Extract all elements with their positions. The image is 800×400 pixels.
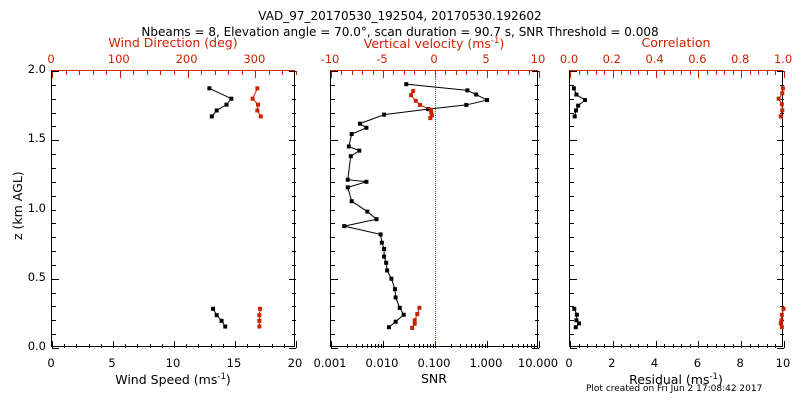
data-point-marker <box>229 97 233 101</box>
axis-tick <box>777 348 784 349</box>
data-point-marker <box>257 325 261 329</box>
data-point-marker <box>350 199 354 203</box>
data-point-marker <box>346 185 350 189</box>
data-series-layer <box>331 71 537 346</box>
axis-tick <box>570 348 577 349</box>
data-point-marker <box>382 247 386 251</box>
bottom-tick-label: 1.000 <box>456 358 516 370</box>
data-point-marker <box>414 99 418 103</box>
data-point-marker <box>342 224 346 228</box>
data-point-marker <box>394 295 398 299</box>
data-point-marker <box>384 261 388 265</box>
data-point-marker <box>207 86 211 90</box>
y-tick-label: 0.5 <box>14 272 46 284</box>
series-vertical-velocity <box>409 89 434 330</box>
top-tick-label: 100 <box>89 54 149 66</box>
data-point-marker <box>258 307 262 311</box>
data-point-marker <box>573 114 577 118</box>
top-tick-label: 5 <box>456 54 516 66</box>
data-point-marker <box>411 89 415 93</box>
data-point-marker <box>576 104 580 108</box>
data-point-marker <box>413 322 417 326</box>
data-point-marker <box>574 108 578 112</box>
series-line <box>209 88 231 116</box>
series-wind-speed <box>207 86 233 328</box>
series-correlation <box>777 86 786 329</box>
data-point-marker <box>398 306 402 310</box>
data-point-marker <box>402 313 406 317</box>
data-point-marker <box>364 180 368 184</box>
bottom-tick-label: 10 <box>143 358 203 370</box>
data-point-marker <box>780 108 784 112</box>
data-point-marker <box>220 319 224 323</box>
y-tick-label: 1.5 <box>14 133 46 145</box>
data-point-marker <box>350 132 354 136</box>
data-point-marker <box>780 91 784 95</box>
data-point-marker <box>365 210 369 214</box>
data-point-marker <box>385 268 389 272</box>
bottom-tick-label: 5 <box>82 358 142 370</box>
axis-tick <box>532 348 539 349</box>
vad-profile-figure: VAD_97_20170530_192504, 20170530.192602 … <box>0 0 800 400</box>
data-series-layer <box>570 71 782 346</box>
bottom-tick-label: 15 <box>204 358 264 370</box>
data-point-marker <box>358 122 362 126</box>
axis-tick <box>296 341 297 348</box>
series-wind-direction <box>251 86 263 328</box>
top-tick-label: 0 <box>21 54 81 66</box>
top-axis-label-residual: Correlation <box>569 37 783 50</box>
data-point-marker <box>215 108 219 112</box>
data-point-marker <box>347 144 351 148</box>
top-tick-label: -10 <box>300 54 360 66</box>
data-point-marker <box>215 313 219 317</box>
data-point-marker <box>255 86 259 90</box>
data-point-marker <box>777 97 781 101</box>
y-tick-label: 1.0 <box>14 203 46 215</box>
axis-tick <box>289 348 296 349</box>
data-point-marker <box>259 114 263 118</box>
data-point-marker <box>393 287 397 291</box>
axis-tick <box>296 71 297 75</box>
data-point-marker <box>387 325 391 329</box>
data-point-marker <box>394 320 398 324</box>
axis-tick <box>784 341 785 348</box>
data-series-layer <box>52 71 294 346</box>
plot-panel-snr[interactable] <box>330 70 538 347</box>
data-point-marker <box>780 313 784 317</box>
figure-title-line1: VAD_97_20170530_192504, 20170530.192602 <box>0 10 800 22</box>
data-point-marker <box>575 313 579 317</box>
series-residual <box>572 86 587 329</box>
y-tick-label: 0.0 <box>14 341 46 353</box>
data-point-marker <box>782 307 786 311</box>
data-point-marker <box>257 319 261 323</box>
data-point-marker <box>379 232 383 236</box>
data-point-marker <box>780 325 784 329</box>
data-point-marker <box>417 306 421 310</box>
data-point-marker <box>404 82 408 86</box>
axis-tick <box>784 71 785 78</box>
bottom-tick-label: 10 <box>753 358 800 370</box>
bottom-tick-label: 0.001 <box>300 358 360 370</box>
axis-tick <box>331 348 338 349</box>
data-point-marker <box>224 103 228 107</box>
data-point-marker <box>257 313 261 317</box>
data-point-marker <box>781 86 785 90</box>
data-point-marker <box>382 113 386 117</box>
data-point-marker <box>223 325 227 329</box>
top-tick-label: 1.0 <box>753 54 800 66</box>
data-point-marker <box>779 321 783 325</box>
data-point-marker <box>572 307 576 311</box>
data-point-marker <box>251 97 255 101</box>
data-point-marker <box>583 98 587 102</box>
data-point-marker <box>349 154 353 158</box>
top-axis-label-wind: Wind Direction (deg) <box>51 37 295 50</box>
bottom-axis-label-residual: Residual (ms-1) <box>569 373 783 387</box>
bottom-tick-label: 0.010 <box>352 358 412 370</box>
axis-tick <box>539 71 540 78</box>
data-point-marker <box>211 307 215 311</box>
data-point-marker <box>485 98 489 102</box>
top-axis-label-snr: Vertical velocity (ms-1) <box>330 37 538 51</box>
axis-tick <box>539 341 540 348</box>
bottom-axis-label-wind: Wind Speed (ms-1) <box>51 373 295 387</box>
data-point-marker <box>465 88 469 92</box>
top-tick-label: -5 <box>352 54 412 66</box>
data-point-marker <box>346 178 350 182</box>
axis-tick <box>52 348 59 349</box>
bottom-tick-label: 0.100 <box>404 358 464 370</box>
data-point-marker <box>474 93 478 97</box>
data-point-marker <box>410 326 414 330</box>
series-line <box>213 309 225 327</box>
data-point-marker <box>780 102 784 106</box>
y-tick-label: 2.0 <box>14 64 46 76</box>
top-tick-label: 200 <box>157 54 217 66</box>
data-point-marker <box>364 126 368 130</box>
series-line <box>344 84 487 327</box>
data-point-marker <box>415 312 419 316</box>
series-line <box>259 309 260 327</box>
data-point-marker <box>577 321 581 325</box>
data-point-marker <box>357 149 361 153</box>
data-point-marker <box>428 116 432 120</box>
data-point-marker <box>572 86 576 90</box>
data-point-marker <box>409 93 413 97</box>
data-point-marker <box>255 108 259 112</box>
series-snr <box>342 82 489 329</box>
data-point-marker <box>574 93 578 97</box>
data-point-marker <box>389 277 393 281</box>
plot-panel-wind[interactable] <box>51 70 295 347</box>
data-point-marker <box>413 318 417 322</box>
bottom-tick-label: 0 <box>21 358 81 370</box>
data-point-marker <box>779 114 783 118</box>
data-point-marker <box>256 103 260 107</box>
bottom-axis-label-snr: SNR <box>330 373 538 386</box>
data-point-marker <box>418 103 422 107</box>
data-point-marker <box>380 241 384 245</box>
data-point-marker <box>574 325 578 329</box>
data-point-marker <box>464 103 468 107</box>
data-point-marker <box>375 217 379 221</box>
top-tick-label: 300 <box>224 54 284 66</box>
plot-panel-residual[interactable] <box>569 70 783 347</box>
data-point-marker <box>382 255 386 259</box>
top-tick-label: 0 <box>404 54 464 66</box>
data-point-marker <box>210 114 214 118</box>
